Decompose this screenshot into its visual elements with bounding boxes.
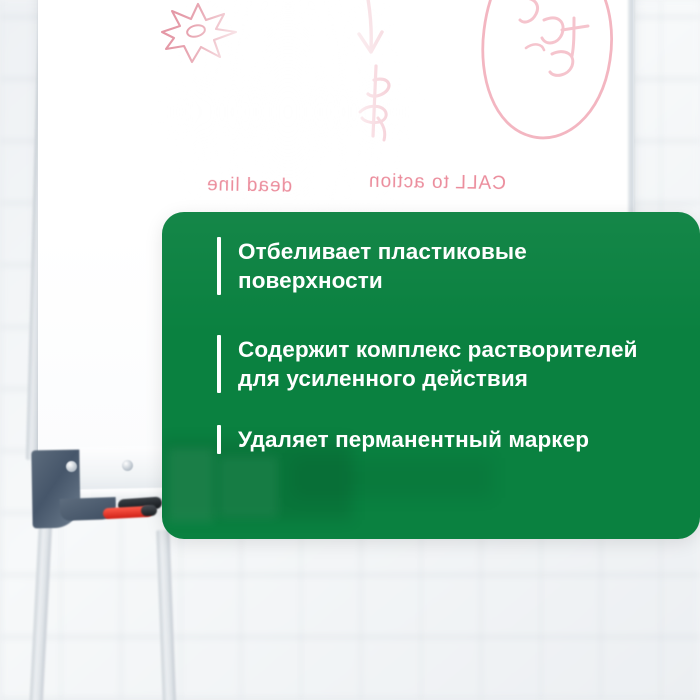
tray-screw-left: [66, 461, 77, 472]
feature-item-1: Отбеливает пластиковые поверхности: [217, 237, 684, 295]
feature-text-2: Содержит комплекс растворителей для усил…: [238, 335, 678, 393]
feature-accent-bar-3: [217, 425, 221, 454]
star-burst-doodle: [156, 2, 244, 64]
handwriting-dead-line: dead line: [206, 174, 292, 197]
handwriting-call-to-action: CALL to action: [368, 171, 506, 195]
feature-spacer-2: [217, 393, 684, 425]
feature-item-3: Удаляет перманентный маркер: [217, 425, 684, 454]
feature-spacer-1: [217, 295, 684, 335]
squiggle-doodle: [354, 62, 408, 144]
feature-text-3: Удаляет перманентный маркер: [238, 425, 589, 454]
panel-seethrough-bracket: [168, 448, 214, 522]
tray-screw-right: [122, 460, 133, 471]
oval-inner-scribble-doodle: [518, 0, 608, 102]
feature-text-1: Отбеливает пластиковые поверхности: [238, 237, 678, 295]
down-arrow-doodle: [348, 0, 398, 66]
feature-accent-bar-2: [217, 335, 221, 393]
feature-list: Отбеливает пластиковые поверхности Содер…: [217, 237, 684, 454]
promo-image-stage: dead line CALL to action Отбеливает плас…: [0, 0, 700, 700]
feature-panel: Отбеливает пластиковые поверхности Содер…: [162, 212, 700, 539]
feature-accent-bar-1: [217, 237, 221, 295]
feature-item-2: Содержит комплекс растворителей для усил…: [217, 335, 684, 393]
panel-seethrough-label: [218, 456, 278, 518]
red-marker-cap: [141, 505, 158, 517]
panel-seethrough-tray-edge: [292, 458, 492, 498]
oval-circle-doodle: [468, 0, 628, 168]
